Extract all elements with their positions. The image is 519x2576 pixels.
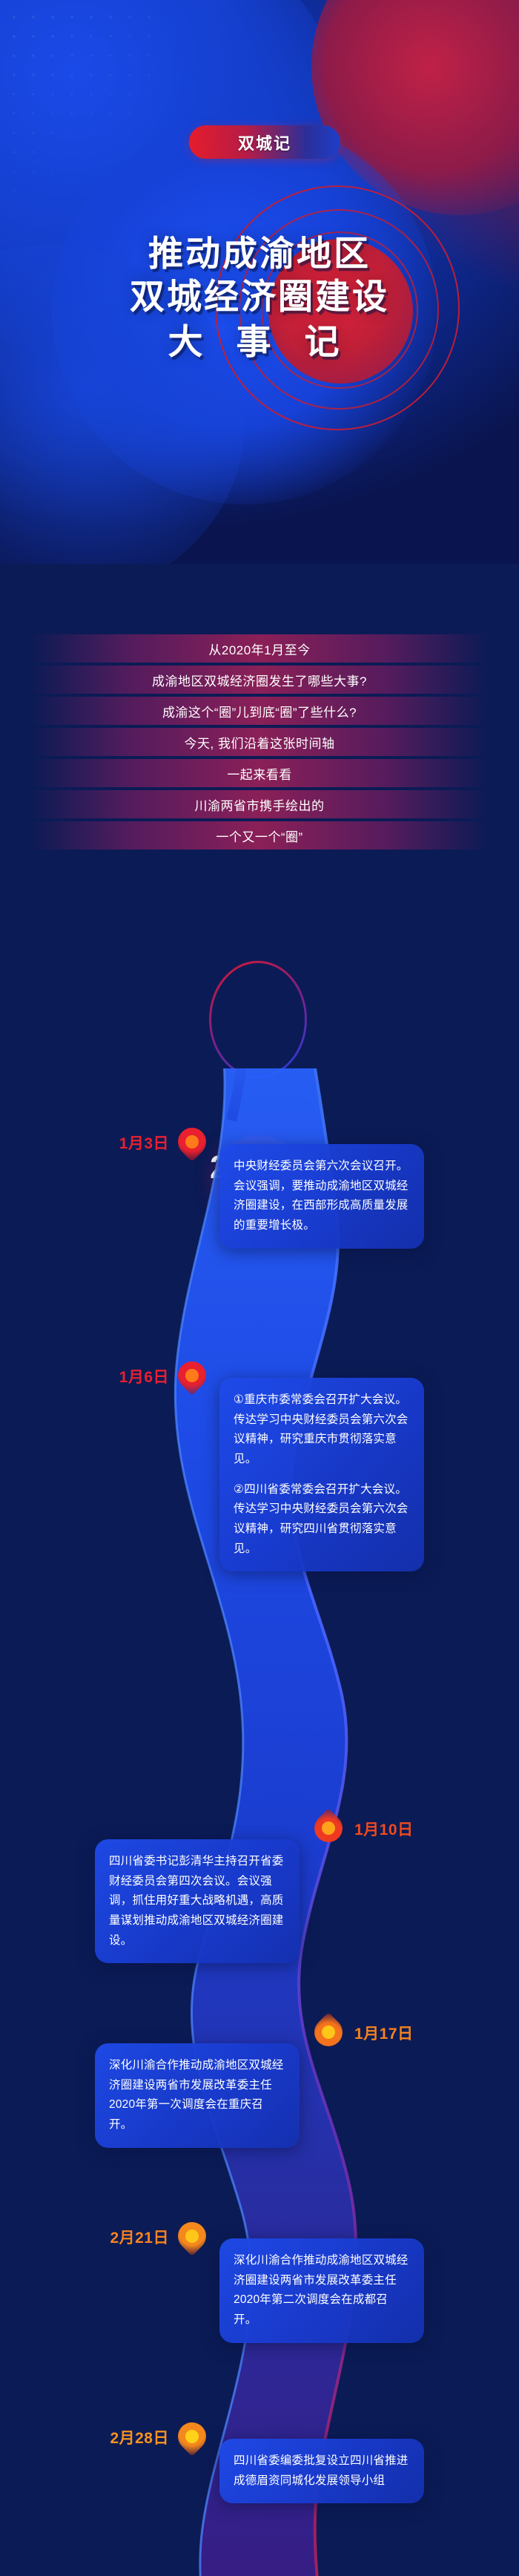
dot-pattern-decoration [4, 7, 160, 193]
timeline-event-paragraph: ①重庆市委常委会召开扩大会议。传达学习中央财经委员会第六次会议精神，研究重庆市贯… [234, 1390, 410, 1470]
page-title-line-3: 大 事 记 [0, 321, 519, 364]
intro-line: 从2020年1月至今 [30, 634, 489, 663]
intro-line: 成渝地区双城经济圈发生了哪些大事? [30, 666, 489, 694]
timeline-event-date: 2月21日 [89, 2226, 169, 2248]
timeline-dot-icon [178, 1128, 206, 1156]
hero-banner: 双城记 推动成渝地区 双城经济圈建设 大 事 记 [0, 0, 519, 564]
intro-line-label: 川渝两省市携手绘出的 [195, 795, 325, 814]
timeline-dot-core [322, 2025, 335, 2039]
timeline-event-date: 1月3日 [89, 1131, 169, 1154]
timeline-dot-icon [178, 1361, 206, 1390]
timeline-dot-core [185, 1369, 199, 1382]
timeline-ribbon-decoration [0, 1068, 519, 2576]
year-ring-decoration [209, 961, 307, 1078]
page-title-line-2: 双城经济圈建设 [0, 275, 519, 318]
intro-line: 一个又一个“圈” [30, 821, 489, 850]
timeline-dot-core [185, 2430, 199, 2443]
timeline-event-card[interactable]: 四川省委书记彭清华主持召开省委财经委员会第四次会议。会议强调，抓住用好重大战略机… [95, 1839, 300, 1963]
timeline-event-date: 2月28日 [89, 2426, 169, 2448]
timeline-event-card[interactable]: 中央财经委员会第六次会议召开。会议强调，要推动成渝地区双城经济圈建设，在西部形成… [219, 1144, 424, 1249]
intro-line-label: 一起来看看 [227, 764, 292, 783]
timeline-event-card[interactable]: 四川省委编委批复设立四川省推进成德眉资同城化发展领导小组 [219, 2439, 424, 2503]
timeline-event-date: 1月17日 [354, 2022, 414, 2044]
intro-line-label: 成渝地区双城经济圈发生了哪些大事? [152, 671, 367, 689]
timeline-event-paragraph: 深化川渝合作推动成渝地区双城经济圈建设两省市发展改革委主任2020年第一次调度会… [109, 2056, 285, 2135]
intro-line: 川渝两省市携手绘出的 [30, 790, 489, 818]
page-title-line-1: 推动成渝地区 [0, 232, 519, 275]
timeline-event-date: 1月6日 [89, 1365, 169, 1387]
intro-line: 一起来看看 [30, 759, 489, 787]
timeline-event-paragraph: ②四川省委常委会召开扩大会议。传达学习中央财经委员会第六次会议精神，研究四川省贯… [234, 1480, 410, 1560]
timeline-event-paragraph: 中央财经委员会第六次会议召开。会议强调，要推动成渝地区双城经济圈建设，在西部形成… [234, 1157, 410, 1236]
timeline-event-paragraph: 四川省委编委批复设立四川省推进成德眉资同城化发展领导小组 [234, 2451, 410, 2491]
timeline-dot-icon [178, 2222, 206, 2250]
series-badge: 双城记 [189, 125, 340, 159]
timeline-event-card[interactable]: 深化川渝合作推动成渝地区双城经济圈建设两省市发展改革委主任2020年第一次调度会… [95, 2043, 300, 2148]
timeline-event-card[interactable]: ①重庆市委常委会召开扩大会议。传达学习中央财经委员会第六次会议精神，研究重庆市贯… [219, 1378, 424, 1571]
intro-line-label: 一个又一个“圈” [216, 827, 303, 845]
page-title: 推动成渝地区 双城经济圈建设 大 事 记 [0, 232, 519, 364]
timeline-event-paragraph: 深化川渝合作推动成渝地区双城经济圈建设两省市发展改革委主任2020年第二次调度会… [234, 2251, 410, 2330]
timeline-dot-icon [314, 1814, 343, 1842]
intro-line-label: 从2020年1月至今 [208, 640, 310, 658]
series-badge-label: 双城记 [238, 131, 291, 154]
intro-text-block: 从2020年1月至今成渝地区双城经济圈发生了哪些大事?成渝这个“圈”儿到底“圈”… [0, 634, 519, 852]
intro-line: 成渝这个“圈”儿到底“圈”了些什么? [30, 697, 489, 725]
timeline-dot-core [185, 1135, 199, 1149]
timeline-event-card[interactable]: 深化川渝合作推动成渝地区双城经济圈建设两省市发展改革委主任2020年第二次调度会… [219, 2238, 424, 2343]
timeline-dot-core [322, 1821, 335, 1835]
intro-line: 今天, 我们沿着这张时间轴 [30, 728, 489, 756]
timeline-dot-icon [178, 2422, 206, 2451]
timeline-dot-icon [314, 2018, 343, 2046]
intro-line-label: 成渝这个“圈”儿到底“圈”了些什么? [162, 702, 357, 720]
intro-line-label: 今天, 我们沿着这张时间轴 [185, 733, 335, 752]
timeline-event-paragraph: 四川省委书记彭清华主持召开省委财经委员会第四次会议。会议强调，抓住用好重大战略机… [109, 1852, 285, 1951]
timeline-event-date: 1月10日 [354, 1818, 414, 1840]
timeline: 1月3日中央财经委员会第六次会议召开。会议强调，要推动成渝地区双城经济圈建设，在… [0, 1068, 519, 2576]
timeline-dot-core [185, 2230, 199, 2243]
